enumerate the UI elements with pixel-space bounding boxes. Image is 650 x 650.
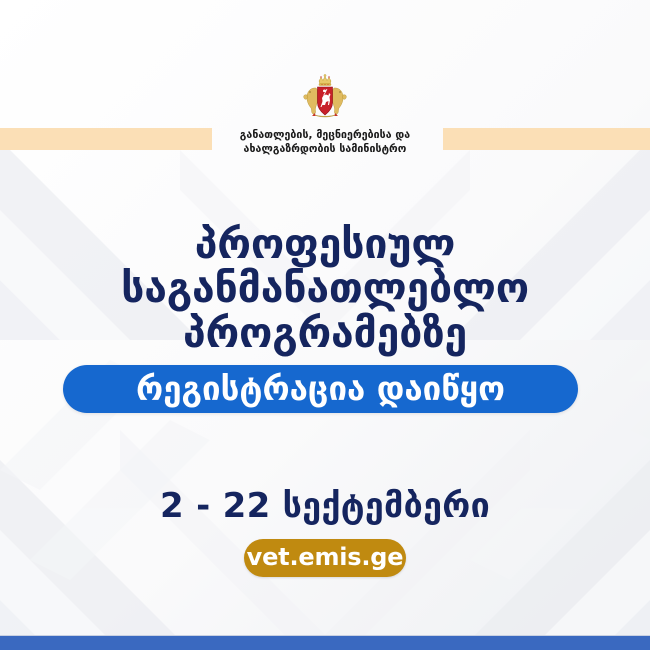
registration-open-badge-label: რეგისტრაცია დაიწყო (136, 372, 505, 405)
headline-line-2: საგანმანათლებლო (0, 266, 650, 310)
headline-line-1: პროფესიულ (0, 222, 650, 266)
ministry-branding: განათლების, მეცნიერებისა და ახალგაზრდობი… (0, 72, 650, 156)
bottom-accent-bar (0, 636, 650, 650)
ministry-name: განათლების, მეცნიერებისა და ახალგაზრდობი… (240, 128, 410, 156)
registration-open-badge: რეგისტრაცია დაიწყო (63, 365, 578, 413)
date-range: 2 - 22 სექტემბერი (0, 489, 650, 523)
georgian-coat-of-arms-icon (300, 72, 350, 122)
headline-line-3: პროგრამებზე (0, 311, 650, 355)
website-url-badge[interactable]: vet.emis.ge (244, 539, 406, 577)
poster-canvas: განათლების, მეცნიერებისა და ახალგაზრდობი… (0, 0, 650, 650)
page-title: პროფესიულ საგანმანათლებლო პროგრამებზე (0, 222, 650, 355)
website-url-label: vet.emis.ge (247, 545, 404, 569)
